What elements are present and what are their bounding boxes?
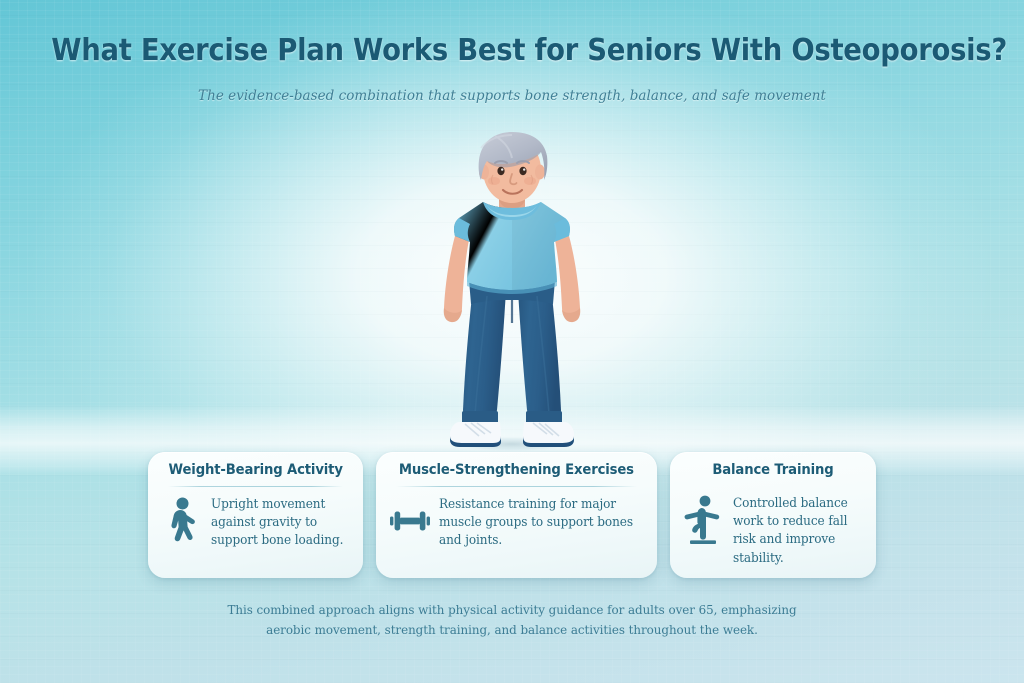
card-description: Controlled balance work to reduce fall r… [733,494,857,568]
card-divider [396,486,637,487]
card-balance-training[interactable]: Balance Training Controlled balance work… [670,452,876,578]
benefit-cards: Weight-Bearing Activity Upright movement… [148,452,876,578]
dumbbell-icon [390,495,430,547]
page-subtitle: The evidence-based combination that supp… [26,88,999,104]
card-body: Controlled balance work to reduce fall r… [684,494,862,568]
infographic-poster: What Exercise Plan Works Best for Senior… [0,0,1024,683]
card-title: Muscle-Strengthening Exercises [399,463,634,479]
footer-line-2: aerobic movement, strength training, and… [20,620,1003,640]
card-body: Upright movement against gravity to supp… [162,495,349,566]
card-divider [168,486,343,487]
card-title: Weight-Bearing Activity [169,463,343,479]
footer-note: This combined approach aligns with physi… [0,600,1024,640]
balance-pose-icon [684,494,724,546]
senior-woman-illustration [407,118,617,454]
card-body: Resistance training for major muscle gro… [390,495,643,566]
footer-line-1: This combined approach aligns with physi… [20,600,1003,620]
card-muscle-strengthening-exercises[interactable]: Muscle-Strengthening Exercises Resistanc… [376,452,657,578]
card-description: Resistance training for major muscle gro… [439,495,635,550]
card-description: Upright movement against gravity to supp… [211,495,344,550]
card-weight-bearing-activity[interactable]: Weight-Bearing Activity Upright movement… [148,452,363,578]
walking-person-icon [162,495,202,547]
header: What Exercise Plan Works Best for Senior… [0,33,1024,104]
card-title: Balance Training [690,463,855,479]
page-title: What Exercise Plan Works Best for Senior… [51,33,973,68]
